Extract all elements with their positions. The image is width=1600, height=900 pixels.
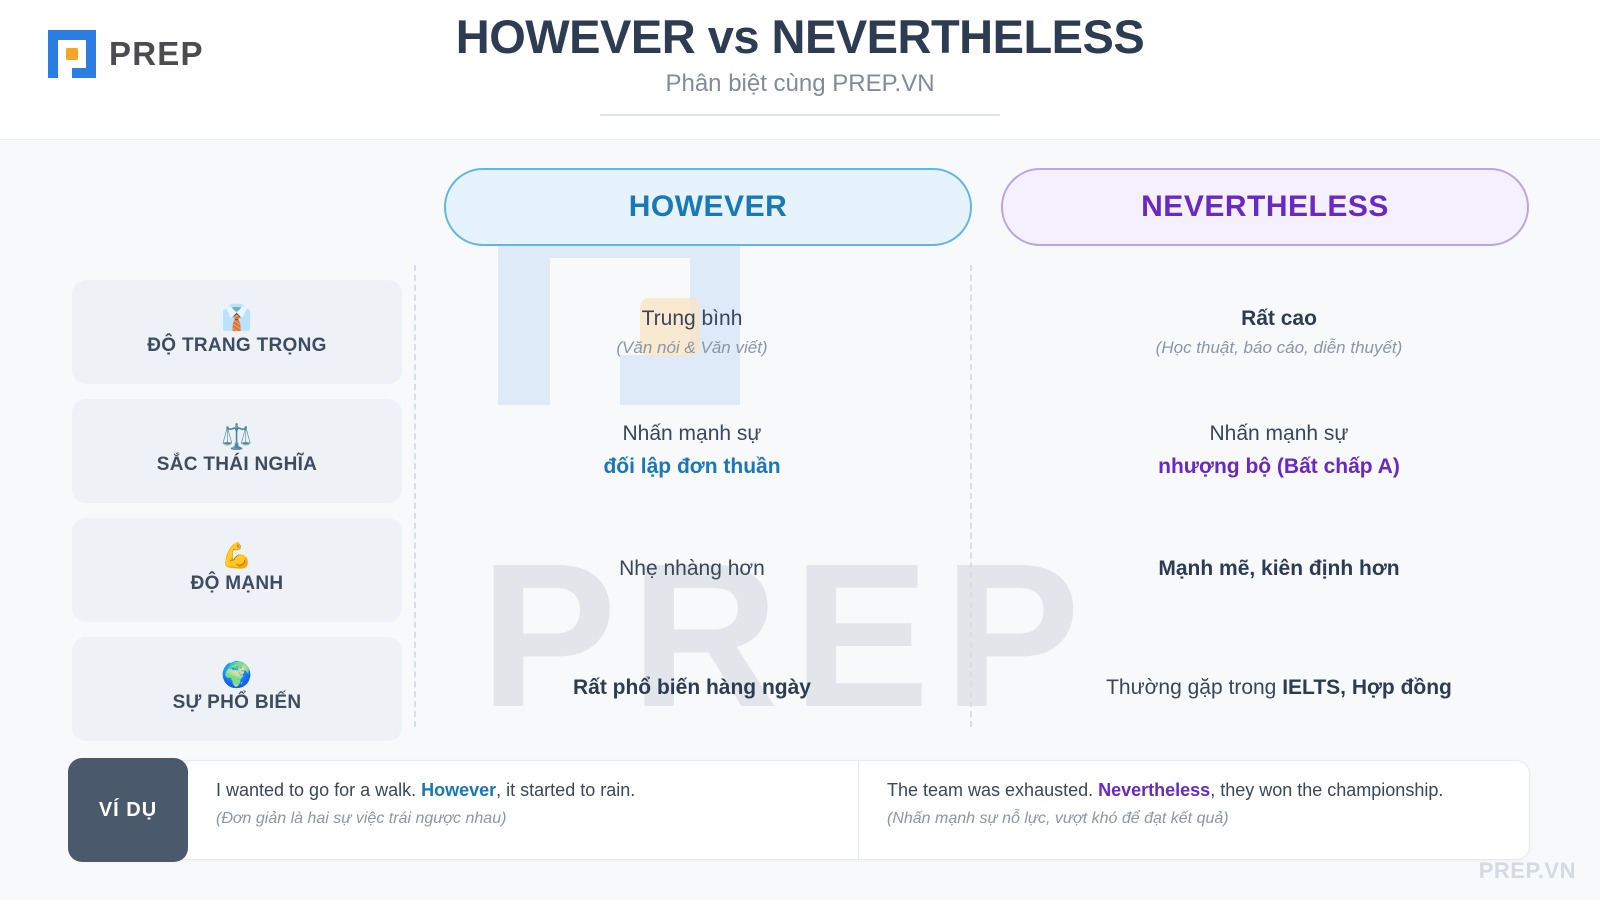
cell-however-nuance: Nhấn mạnh sự đối lập đơn thuần [414, 420, 970, 481]
infographic-page: PREP PREP HOWEVER vs NEVERTHELESS Phân b… [0, 0, 1600, 900]
sentence-after: , it started to rain. [496, 780, 635, 800]
sentence-before: I wanted to go for a walk. [216, 780, 421, 800]
cell-sub-text: (Học thuật, báo cáo, diễn thuyết) [1156, 338, 1403, 358]
corner-watermark: PREP.VN [1479, 858, 1576, 884]
title-block: HOWEVER vs NEVERTHELESS Phân biệt cùng P… [0, 10, 1600, 116]
cell-prefix-text: Thường gặp trong [1106, 676, 1282, 699]
table-row: 🌍 SỰ PHỔ BIẾN Rất phổ biến hàng ngày Thư… [0, 629, 1600, 748]
column-header-nevertheless[interactable]: NEVERTHELESS [1001, 168, 1529, 246]
table-row: ⚖️ SẮC THÁI NGHĨA Nhấn mạnh sự đối lập đ… [0, 391, 1600, 510]
column-header-however[interactable]: HOWEVER [444, 168, 972, 246]
cell-nevertheless-strength: Mạnh mẽ, kiên định hơn [1001, 555, 1557, 583]
keyword-however: However [421, 780, 496, 800]
sentence-after: , they won the championship. [1210, 780, 1443, 800]
cell-however-frequency: Rất phổ biến hàng ngày [414, 674, 970, 702]
column-headers: HOWEVER NEVERTHELESS [0, 168, 1600, 248]
row-label-su-pho-bien: 🌍 SỰ PHỔ BIẾN [72, 637, 402, 741]
keyword-nevertheless: Nevertheless [1098, 780, 1210, 800]
globe-icon: 🌍 [221, 663, 252, 688]
cell-nevertheless-frequency: Thường gặp trong IELTS, Hợp đồng [1001, 674, 1557, 702]
example-sentence: The team was exhausted. Nevertheless, th… [887, 779, 1503, 802]
example-note: (Đơn giản là hai sự việc trái ngược nhau… [216, 810, 832, 828]
example-panel: VÍ DỤ I wanted to go for a walk. However… [70, 760, 1530, 860]
cell-main-text: Rất cao [1241, 305, 1317, 333]
comparison-table: 👔 ĐỘ TRANG TRỌNG Trung bình (Văn nói & V… [0, 272, 1600, 748]
row-label-text: SẮC THÁI NGHĨA [157, 454, 317, 476]
page-header: PREP HOWEVER vs NEVERTHELESS Phân biệt c… [0, 0, 1600, 140]
example-note: (Nhấn mạnh sự nỗ lực, vượt khó để đạt kế… [887, 810, 1503, 828]
cell-however-formality: Trung bình (Văn nói & Văn viết) [414, 305, 970, 357]
scales-icon: ⚖️ [221, 425, 252, 450]
cell-accent-text: đối lập đơn thuần [603, 453, 780, 481]
example-badge: VÍ DỤ [68, 758, 188, 862]
row-label-do-manh: 💪 ĐỘ MẠNH [72, 518, 402, 622]
cell-main-text: Nhấn mạnh sự [1210, 420, 1349, 448]
table-row: 💪 ĐỘ MẠNH Nhẹ nhàng hơn Mạnh mẽ, kiên đị… [0, 510, 1600, 629]
cell-nevertheless-formality: Rất cao (Học thuật, báo cáo, diễn thuyết… [1001, 305, 1557, 357]
row-label-text: SỰ PHỔ BIẾN [173, 692, 302, 714]
table-row: 👔 ĐỘ TRANG TRỌNG Trung bình (Văn nói & V… [0, 272, 1600, 391]
cell-main-text: Thường gặp trong IELTS, Hợp đồng [1106, 674, 1452, 702]
example-sentence: I wanted to go for a walk. However, it s… [216, 779, 832, 802]
cell-sub-text: (Văn nói & Văn viết) [616, 338, 767, 358]
sentence-before: The team was exhausted. [887, 780, 1098, 800]
row-label-text: ĐỘ TRANG TRỌNG [147, 335, 326, 357]
cell-accent-text: nhượng bộ (Bất chấp A) [1158, 453, 1400, 481]
page-title: HOWEVER vs NEVERTHELESS [0, 10, 1600, 64]
cell-main-text: Nhẹ nhàng hơn [619, 555, 765, 583]
cell-however-strength: Nhẹ nhàng hơn [414, 555, 970, 583]
cell-main-text: Mạnh mẽ, kiên định hơn [1158, 555, 1399, 583]
example-however: I wanted to go for a walk. However, it s… [188, 761, 858, 859]
row-label-text: ĐỘ MẠNH [191, 573, 284, 595]
cell-main-text: Rất phổ biến hàng ngày [573, 674, 811, 702]
page-subtitle: Phân biệt cùng PREP.VN [0, 70, 1600, 98]
cell-strong-text: IELTS, Hợp đồng [1282, 676, 1452, 699]
row-label-sac-thai-nghia: ⚖️ SẮC THÁI NGHĨA [72, 399, 402, 503]
title-divider [600, 114, 1000, 116]
cell-main-text: Trung bình [642, 305, 743, 333]
necktie-icon: 👔 [221, 306, 252, 331]
row-label-do-trang-trong: 👔 ĐỘ TRANG TRỌNG [72, 280, 402, 384]
flexed-biceps-icon: 💪 [221, 544, 252, 569]
cell-main-text: Nhấn mạnh sự [623, 420, 762, 448]
example-nevertheless: The team was exhausted. Nevertheless, th… [858, 761, 1529, 859]
cell-nevertheless-nuance: Nhấn mạnh sự nhượng bộ (Bất chấp A) [1001, 420, 1557, 481]
